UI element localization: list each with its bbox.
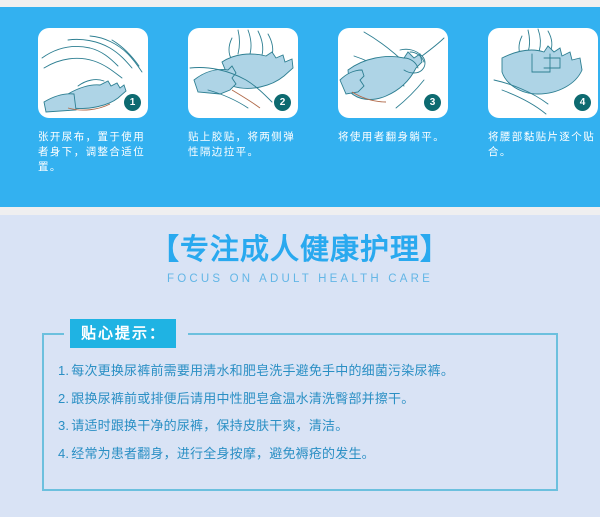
step-2: 2 贴上胶贴，将两侧弹性隔边拉平。 — [188, 28, 328, 160]
tip-1-number: 1. — [58, 363, 69, 378]
list-item: 4.经常为患者翻身，进行全身按摩，避免褥疮的发生。 — [58, 441, 558, 469]
tips-list: 1.每次更换尿裤前需要用清水和肥皂洗手避免手中的细菌污染尿裤。 2.跟换尿裤前或… — [58, 358, 558, 468]
health-care-panel: 【专注成人健康护理】 FOCUS ON ADULT HEALTH CARE 贴心… — [0, 215, 600, 517]
diaper-shape — [68, 81, 126, 109]
tips-section-title: 贴心提示： — [70, 319, 176, 348]
tip-3-text: 请适时跟换干净的尿裤，保持皮肤干爽，清洁。 — [71, 419, 348, 434]
step-1-caption: 张开尿布，置于使用者身下，调整合适位置。 — [38, 130, 156, 175]
step-4-illustration-card: 4 — [488, 28, 598, 118]
page-title: 【专注成人健康护理】 — [0, 232, 600, 266]
step-1-number-badge: 1 — [124, 94, 141, 111]
step-3-illustration-card: 3 — [338, 28, 448, 118]
diaper-waist-shape — [502, 46, 582, 94]
list-item: 1.每次更换尿裤前需要用清水和肥皂洗手避免手中的细菌污染尿裤。 — [58, 358, 558, 386]
step-3-caption: 将使用者翻身躺平。 — [338, 130, 456, 145]
top-white-strip — [0, 0, 600, 7]
tip-3-number: 3. — [58, 418, 69, 433]
step-3-number-badge: 3 — [424, 94, 441, 111]
list-item: 2.跟换尿裤前或排便后请用中性肥皂盒温水清洗臀部并擦干。 — [58, 386, 558, 414]
headline-block: 【专注成人健康护理】 FOCUS ON ADULT HEALTH CARE — [0, 232, 600, 285]
step-1-illustration-card: 1 — [38, 28, 148, 118]
page-subtitle: FOCUS ON ADULT HEALTH CARE — [0, 273, 600, 285]
tip-2-number: 2. — [58, 391, 69, 406]
step-4: 4 将腰部黏贴片逐个贴合。 — [488, 28, 600, 160]
section-divider-gap — [0, 207, 600, 215]
step-1: 1 张开尿布，置于使用者身下，调整合适位置。 — [38, 28, 178, 175]
tip-2-text: 跟换尿裤前或排便后请用中性肥皂盒温水清洗臀部并擦干。 — [71, 392, 414, 407]
steps-row: 1 张开尿布，置于使用者身下，调整合适位置。 — [0, 7, 600, 207]
step-2-number-badge: 2 — [274, 94, 291, 111]
step-2-caption: 贴上胶贴，将两侧弹性隔边拉平。 — [188, 130, 306, 160]
step-4-number-badge: 4 — [574, 94, 591, 111]
step-4-caption: 将腰部黏贴片逐个贴合。 — [488, 130, 600, 160]
tip-4-number: 4. — [58, 446, 69, 461]
step-2-illustration-card: 2 — [188, 28, 298, 118]
step-3: 3 将使用者翻身躺平。 — [338, 28, 478, 145]
tip-1-text: 每次更换尿裤前需要用清水和肥皂洗手避免手中的细菌污染尿裤。 — [71, 364, 454, 379]
diaper-left-wing-shape — [194, 66, 236, 94]
list-item: 3.请适时跟换干净的尿裤，保持皮肤干爽，清洁。 — [58, 413, 558, 441]
instruction-steps-band: 1 张开尿布，置于使用者身下，调整合适位置。 — [0, 7, 600, 207]
tip-4-text: 经常为患者翻身，进行全身按摩，避免褥疮的发生。 — [71, 447, 375, 462]
